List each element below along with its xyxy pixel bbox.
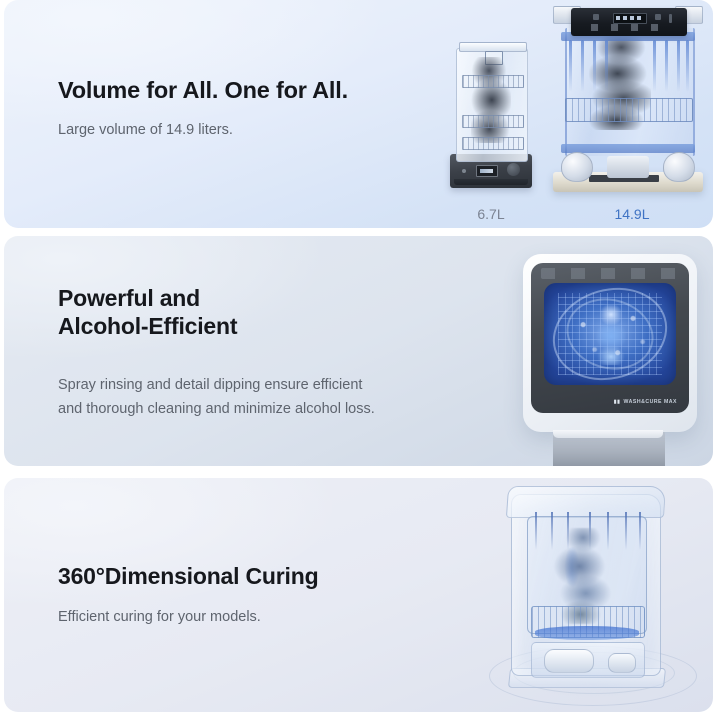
large-washer-control-panel [571,8,687,36]
motor-cylinder [544,649,594,673]
spray-jet [653,40,656,92]
spray-jet [677,40,680,92]
panel-curing-subtitle: Efficient curing for your models. [58,606,318,629]
large-washer-spray-jets [569,40,689,94]
machine-outer-shell: ▮▮WASH&CURE MAX [523,254,697,432]
uv-rod [639,512,641,550]
uv-rod [535,512,537,550]
feature-panels-page: Volume for All. One for All. Large volum… [0,0,716,720]
large-washer-display [613,13,647,24]
machine-brand-text: WASH&CURE MAX [624,399,677,405]
volume-label-small: 6.7L [444,206,538,222]
spray-jet [665,40,668,92]
panel-cleaning-title: Powerful and Alcohol-Efficient [58,284,375,340]
machine-front-frame: ▮▮WASH&CURE MAX [531,263,689,413]
panel-volume-title: Volume for All. One for All. [58,76,348,105]
pump-center [607,156,649,178]
rotating-plate [535,626,639,640]
small-washer-rack [462,75,524,88]
volume-comparison-image: 6.7L 14.9L [438,0,713,228]
spray-jet [569,40,572,92]
machine-vent-strip [541,268,679,279]
spray-jet [593,40,596,92]
small-washer-rack [462,137,524,150]
small-washer-illustration [450,46,532,196]
spray-jet [605,40,608,92]
control-button [593,14,599,20]
small-washer-rack [462,115,524,128]
spray-jet [581,40,584,92]
control-button [655,14,661,20]
uv-rod [625,512,627,550]
panel-curing-title: 360°Dimensional Curing [58,562,318,590]
panel-cleaning-subtitle: Spray rinsing and detail dipping ensure … [58,374,375,421]
curing-chamber-image [469,478,709,712]
panel-cleaning-text-block: Powerful and Alcohol-Efficient Spray rin… [58,284,375,421]
motor-cylinder [608,653,636,673]
motor-assembly [531,642,645,678]
machine-viewing-window [544,283,676,385]
panel-curing-text-block: 360°Dimensional Curing Efficient curing … [58,562,318,630]
small-washer-display [476,165,498,177]
feature-panel-cleaning: Powerful and Alcohol-Efficient Spray rin… [4,236,713,466]
small-washer-tank [456,48,528,162]
small-washer-foot [454,179,528,185]
small-washer-indicator-light [462,169,466,173]
machine-brand-label: ▮▮WASH&CURE MAX [614,399,677,405]
pump [663,152,695,182]
large-washer-pump-assembly [559,152,697,182]
large-washer-illustration [555,2,701,198]
panel-volume-subtitle: Large volume of 14.9 liters. [58,119,348,142]
control-icon-row [591,24,671,31]
panel-volume-text-block: Volume for All. One for All. Large volum… [58,76,348,142]
small-washer-knob [507,163,520,176]
water-splash-droplets [562,295,658,373]
spray-jet [686,40,689,92]
control-button [669,14,672,23]
wash-cure-machine-image: ▮▮WASH&CURE MAX [485,246,707,466]
feature-panel-volume: Volume for All. One for All. Large volum… [4,0,713,228]
feature-panel-curing: 360°Dimensional Curing Efficient curing … [4,478,713,712]
machine-door-lip [553,430,663,438]
volume-label-large: 14.9L [557,206,707,222]
large-washer-rack [565,98,693,122]
pump [561,152,593,182]
brand-mark-icon: ▮▮ [614,399,621,405]
small-washer-model-part [471,57,511,143]
